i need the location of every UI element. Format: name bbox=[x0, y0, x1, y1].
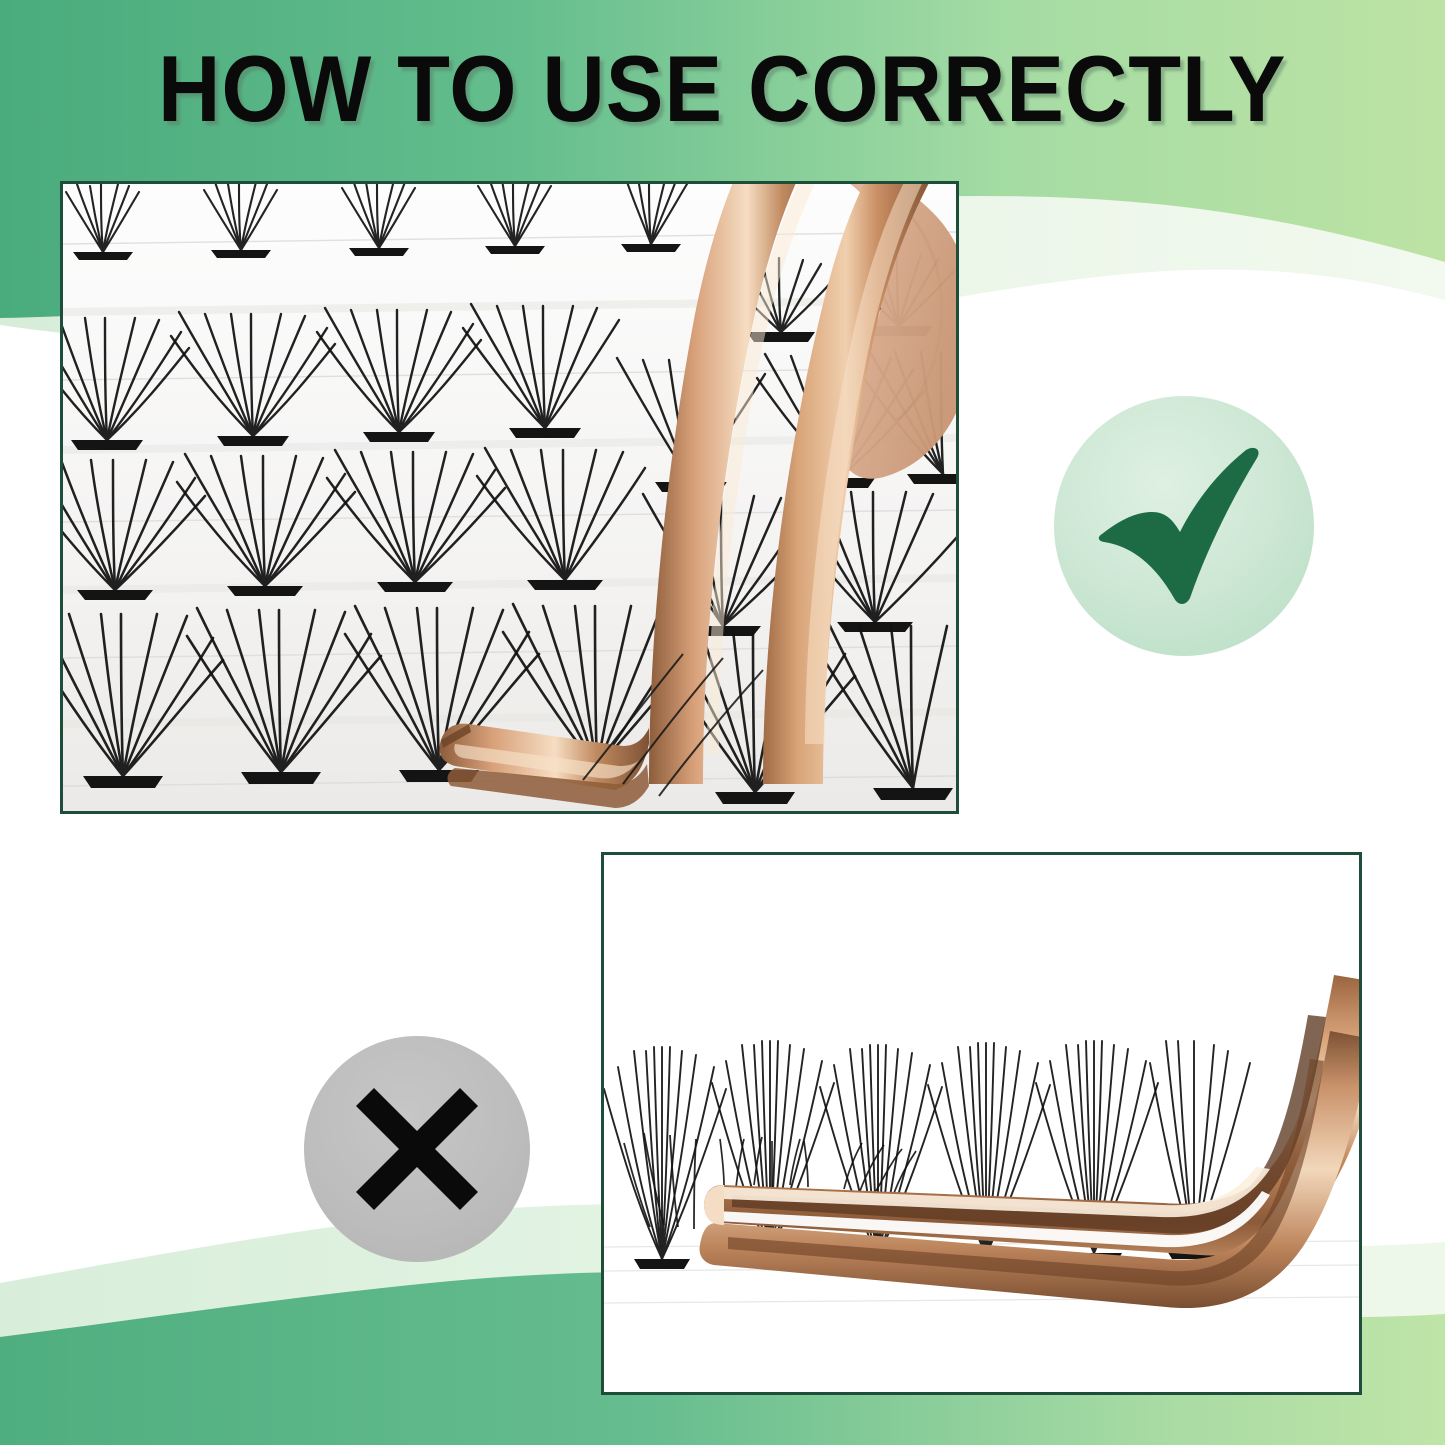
page-title-container: HOW TO USE CORRECTLY bbox=[0, 42, 1445, 136]
cross-icon bbox=[352, 1084, 482, 1214]
incorrect-usage-photo bbox=[601, 852, 1362, 1395]
status-badge-wrong bbox=[304, 1036, 530, 1262]
page-title: HOW TO USE CORRECTLY bbox=[158, 42, 1286, 136]
incorrect-usage-illustration bbox=[604, 855, 1359, 1392]
correct-usage-photo bbox=[60, 181, 959, 814]
check-icon bbox=[1094, 446, 1274, 606]
infographic-canvas: HOW TO USE CORRECTLY bbox=[0, 0, 1445, 1445]
correct-usage-illustration bbox=[63, 184, 956, 811]
status-badge-correct bbox=[1054, 396, 1314, 656]
